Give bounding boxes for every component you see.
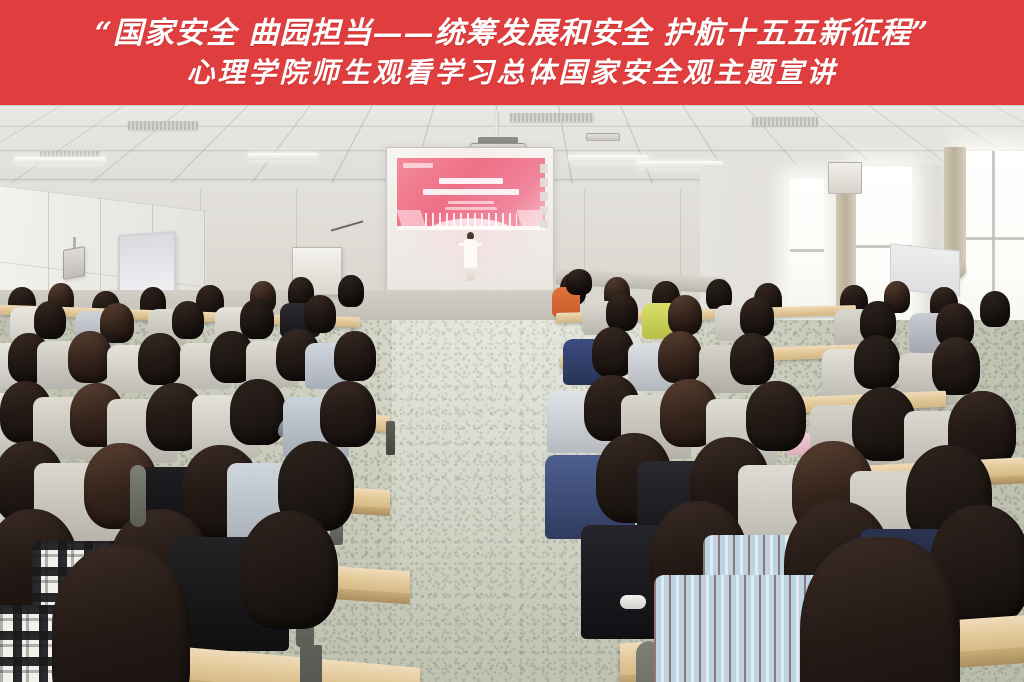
ceiling-light bbox=[248, 153, 318, 160]
audience-member bbox=[980, 291, 1010, 327]
slide-subheadline bbox=[423, 189, 519, 195]
audience-member bbox=[304, 295, 336, 333]
hair bbox=[566, 269, 592, 295]
slide-logo bbox=[403, 163, 433, 168]
audience-member bbox=[138, 333, 182, 385]
student-shoe bbox=[620, 595, 646, 609]
slide-headline bbox=[439, 178, 503, 184]
event-photograph bbox=[0, 105, 1024, 682]
audience-member bbox=[68, 331, 112, 383]
audience-member bbox=[338, 275, 364, 307]
hair bbox=[606, 293, 638, 331]
audience-member bbox=[854, 335, 900, 389]
hair bbox=[138, 333, 182, 385]
hair bbox=[800, 537, 960, 682]
audience-member bbox=[606, 293, 638, 331]
hair bbox=[240, 511, 338, 629]
hair bbox=[52, 545, 190, 682]
slide-architecture-graphic bbox=[397, 208, 545, 230]
foreground-student-head bbox=[52, 545, 190, 682]
audience-member bbox=[932, 337, 980, 395]
projected-slide bbox=[397, 158, 545, 230]
audience-member bbox=[566, 269, 592, 295]
banner-title-line-1: “国家安全 曲园担当——统筹发展和安全 护航十五五新征程” bbox=[95, 14, 929, 54]
wall-ac-vent bbox=[828, 162, 862, 194]
audience-member bbox=[668, 295, 702, 335]
banner-title-line-2: 心理学院师生观看学习总体国家安全观主题宣讲 bbox=[186, 54, 837, 92]
audience-member bbox=[240, 511, 338, 629]
hair bbox=[854, 335, 900, 389]
hair bbox=[230, 379, 286, 445]
hair bbox=[338, 275, 364, 307]
event-title-banner: “国家安全 曲园担当——统筹发展和安全 护航十五五新征程” 心理学院师生观看学习… bbox=[0, 0, 1024, 105]
ceiling-light bbox=[14, 157, 106, 164]
hair bbox=[334, 331, 376, 381]
wall-mounted-speaker bbox=[63, 246, 85, 280]
audience-member bbox=[230, 379, 286, 445]
speaker-body bbox=[464, 239, 477, 269]
hair bbox=[932, 337, 980, 395]
ceiling-speaker bbox=[586, 133, 620, 141]
hair bbox=[740, 297, 774, 337]
chair-back-frame bbox=[130, 465, 146, 527]
speaker-legs bbox=[466, 267, 474, 281]
hair bbox=[304, 295, 336, 333]
window-mullion bbox=[790, 249, 824, 252]
screenshot-root: “国家安全 曲园担当——统筹发展和安全 护航十五五新征程” 心理学院师生观看学习… bbox=[0, 0, 1024, 682]
hair bbox=[980, 291, 1010, 327]
desk-leg bbox=[300, 645, 322, 682]
slide-caption-1 bbox=[448, 201, 494, 204]
audience-member bbox=[320, 381, 376, 447]
desk-frame bbox=[386, 421, 395, 455]
onscreen-speaker bbox=[462, 232, 479, 282]
hair bbox=[658, 331, 702, 383]
ceiling-vent bbox=[128, 121, 198, 130]
stream-sidebar bbox=[540, 164, 548, 228]
foreground-student-head bbox=[800, 537, 960, 682]
audience-member bbox=[730, 333, 774, 385]
audience-member bbox=[740, 297, 774, 337]
ceiling-vent bbox=[510, 113, 594, 122]
audience-member bbox=[658, 331, 702, 383]
audience-member bbox=[334, 331, 376, 381]
projection-screen bbox=[386, 147, 554, 297]
hair bbox=[320, 381, 376, 447]
hair bbox=[68, 331, 112, 383]
hair bbox=[730, 333, 774, 385]
ceiling-vent bbox=[752, 117, 818, 126]
hair bbox=[668, 295, 702, 335]
